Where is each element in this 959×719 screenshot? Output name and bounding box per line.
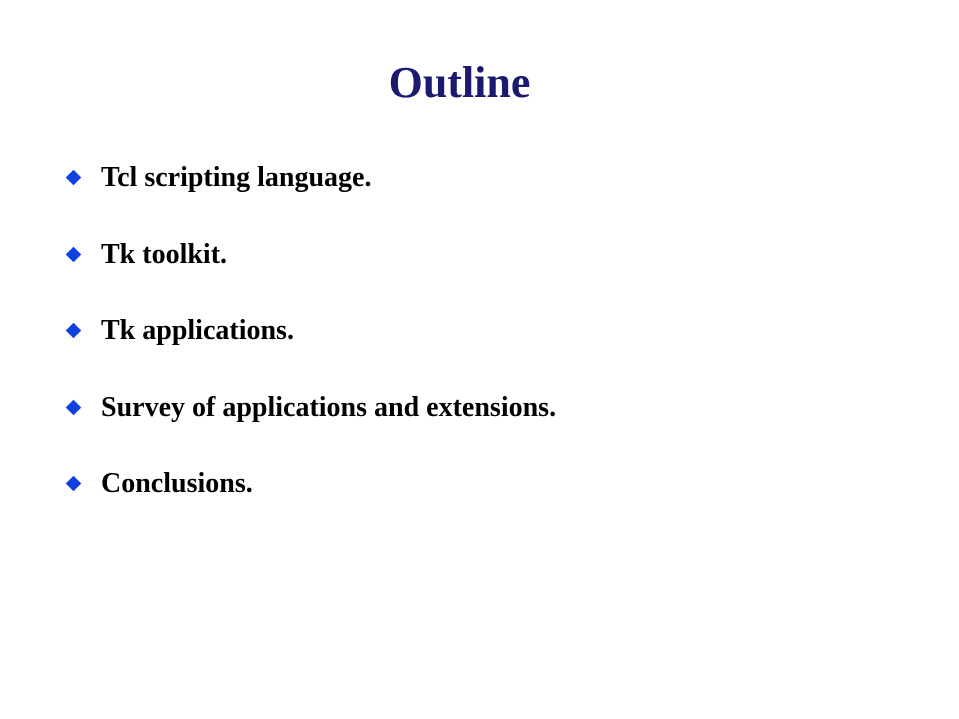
diamond-bullet-icon [66,400,81,415]
diamond-bullet-icon [66,323,81,338]
list-item: Tk toolkit. [0,229,959,306]
list-item: Tk applications. [0,305,959,382]
diamond-bullet-icon [66,247,81,262]
list-item-label: Tk applications. [101,314,294,348]
slide-title: Outline [0,57,919,109]
list-item: Survey of applications and extensions. [0,382,959,459]
outline-bullet-list: Tcl scripting language. Tk toolkit. Tk a… [0,152,959,535]
list-item-label: Tcl scripting language. [101,161,371,195]
list-item: Conclusions. [0,458,959,535]
diamond-bullet-icon [66,476,81,491]
list-item-label: Survey of applications and extensions. [101,391,556,425]
presentation-slide: Outline Tcl scripting language. Tk toolk… [0,0,959,719]
list-item-label: Tk toolkit. [101,238,227,272]
list-item: Tcl scripting language. [0,152,959,229]
diamond-bullet-icon [66,170,81,185]
list-item-label: Conclusions. [101,467,253,501]
